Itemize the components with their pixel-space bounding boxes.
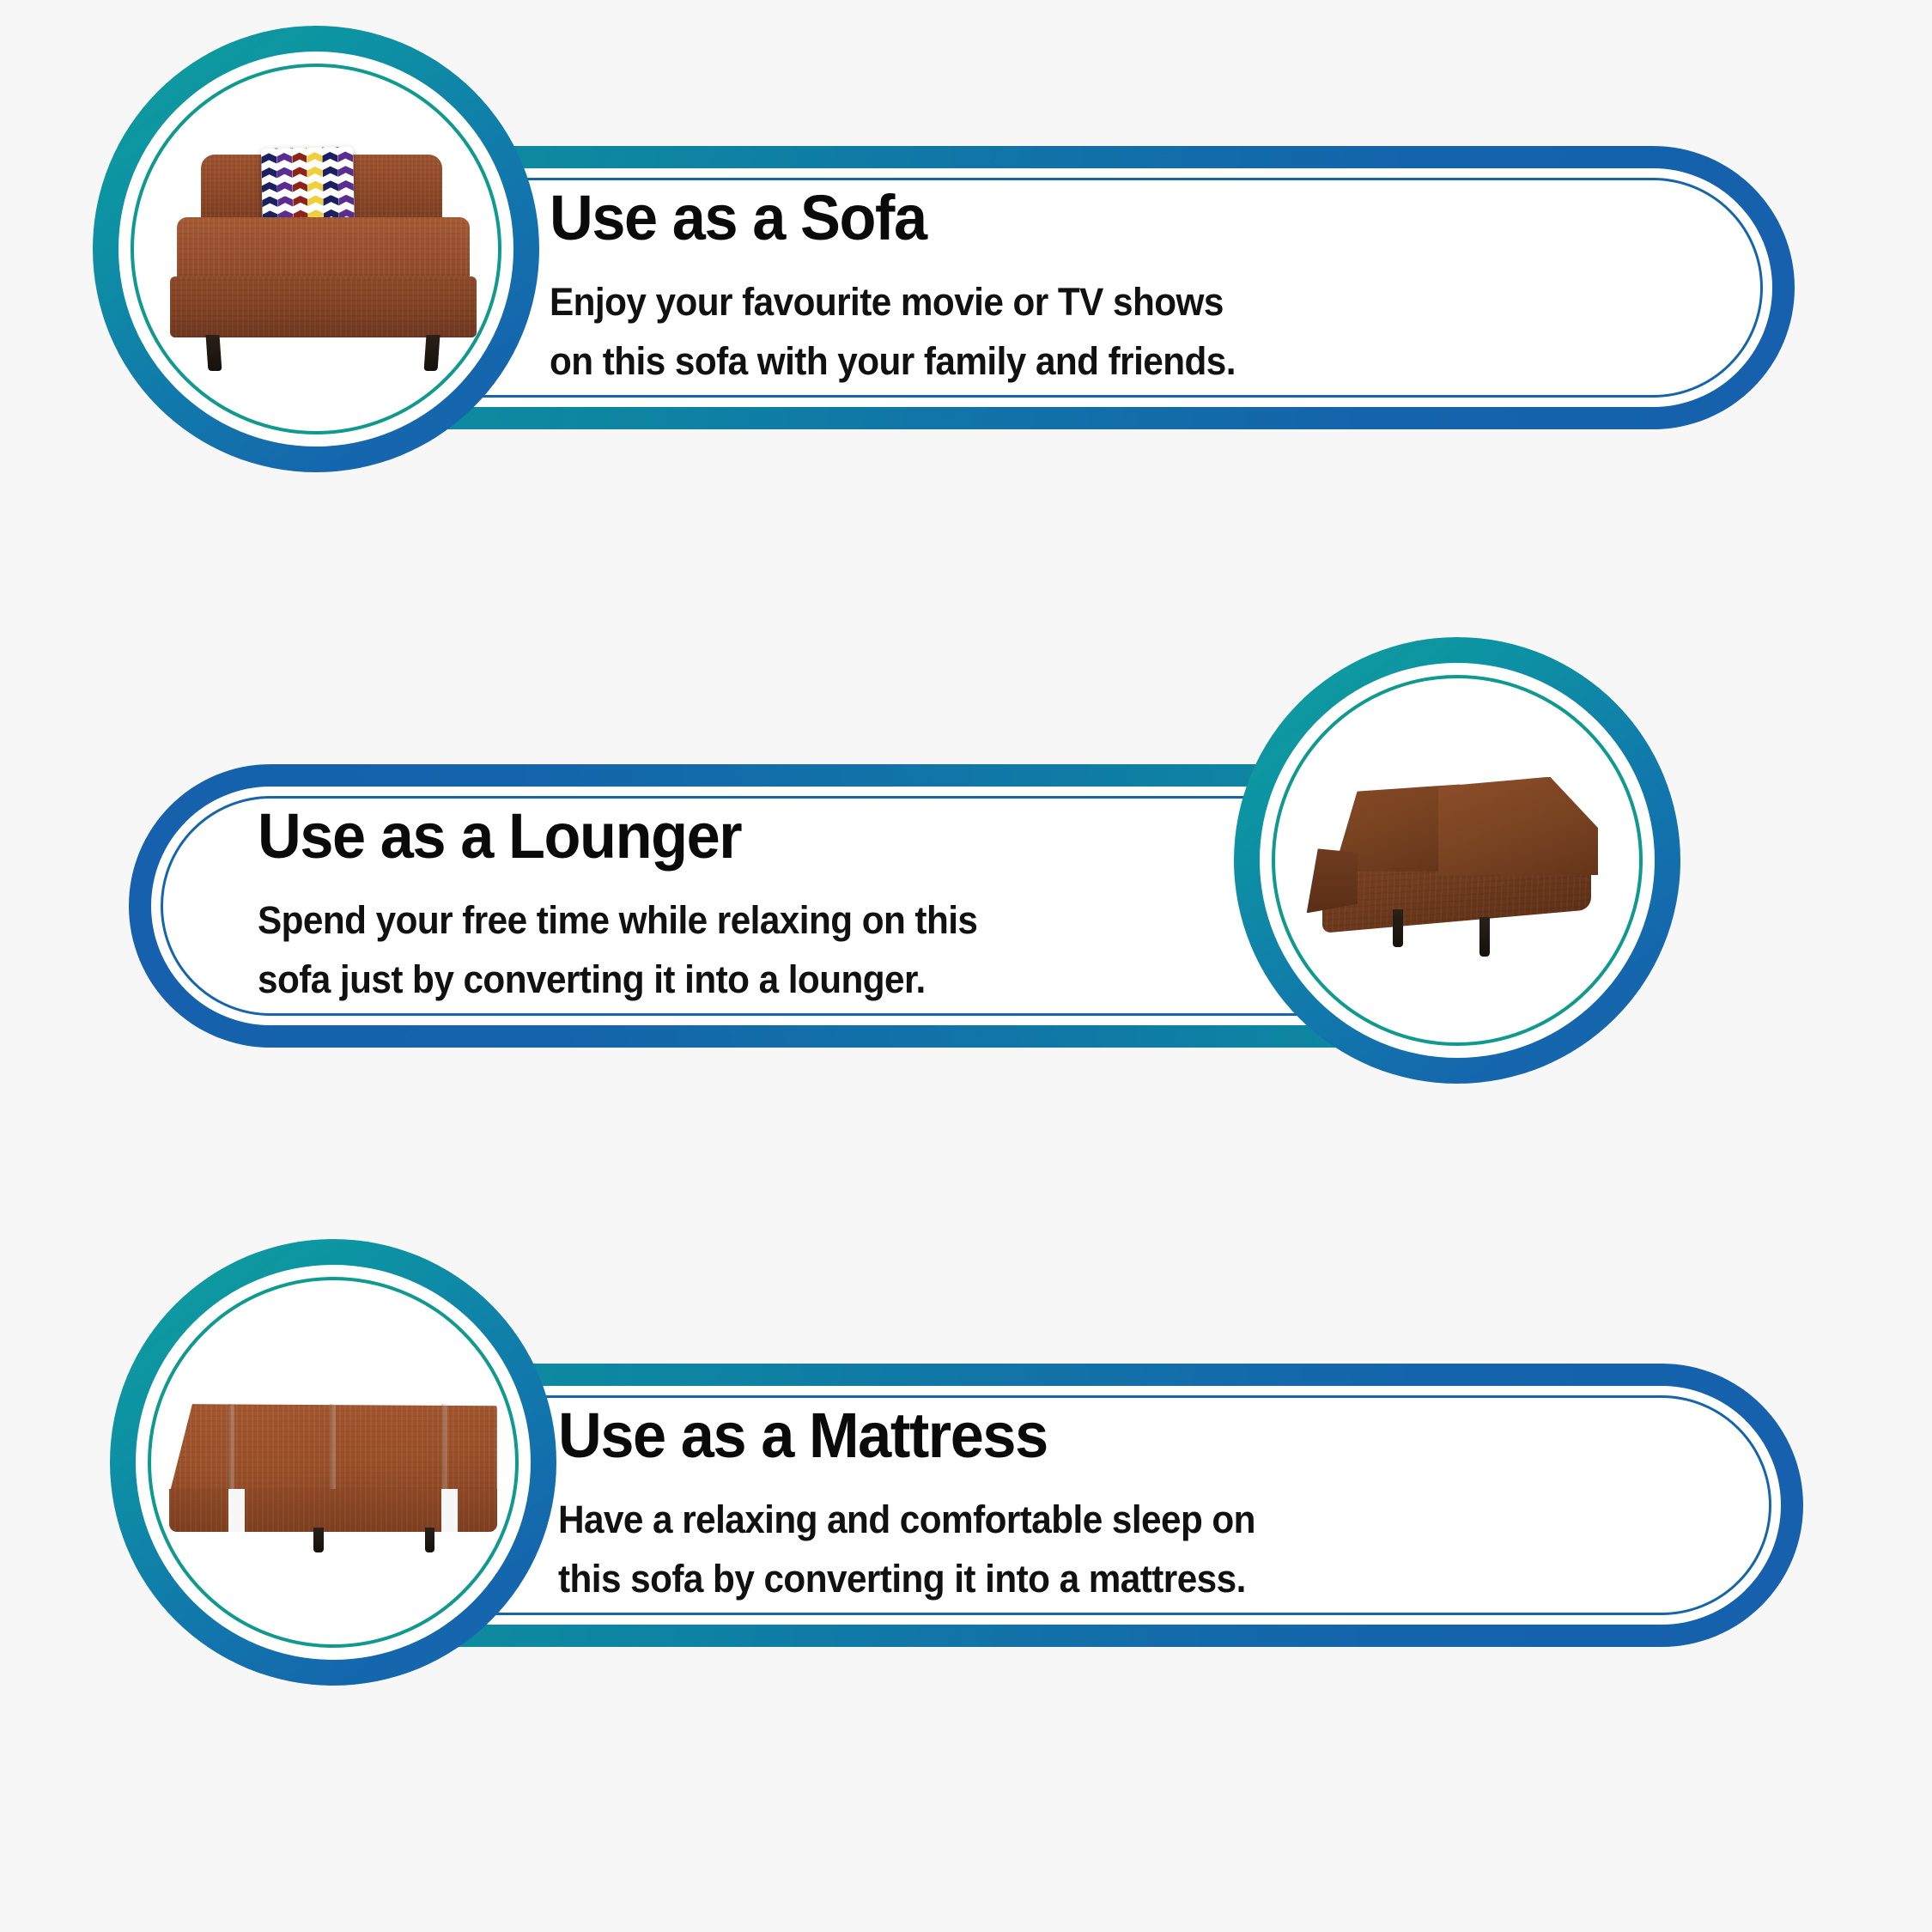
- sofa-description: Enjoy your favourite movie or TV shows o…: [550, 273, 1631, 391]
- cushion-chevron-stripe: [307, 147, 322, 153]
- sofa-base: [170, 276, 476, 337]
- capsule-white-gap: Use as a Mattress Have a relaxing and co…: [340, 1386, 1781, 1625]
- mattress-leg-left: [313, 1528, 323, 1552]
- cushion-chevron-stripe: [276, 153, 292, 167]
- sofa-body: [170, 155, 476, 380]
- mattress-notch-right: [441, 1489, 458, 1533]
- cushion-chevron-stripe: [277, 181, 293, 196]
- badge-inner-ring: [148, 1277, 519, 1648]
- sofa-text-block: Use as a Sofa Enjoy your favourite movie…: [343, 185, 1760, 391]
- cushion-chevron-stripe: [323, 180, 338, 195]
- badge-inner-ring: [131, 64, 501, 434]
- cushion-chevron-stripe: [307, 180, 323, 195]
- sofa-seat: [177, 217, 471, 281]
- mattress-seam-1: [228, 1404, 234, 1494]
- badge-white-gap: [118, 52, 513, 447]
- mattress-description-line-1: Have a relaxing and comfortable sleep on: [558, 1491, 1640, 1549]
- mattress-description-line-2: this sofa by converting it into a mattre…: [558, 1550, 1640, 1608]
- mattress-description: Have a relaxing and comfortable sleep on…: [558, 1491, 1640, 1608]
- lounger-title: Use as a Lounger: [258, 803, 1318, 870]
- sofa-description-line-2: on this sofa with your family and friend…: [550, 332, 1631, 391]
- cushion-chevron-stripe: [292, 152, 307, 167]
- capsule-inner: Use as a Mattress Have a relaxing and co…: [349, 1395, 1771, 1615]
- cushion-chevron-stripe: [323, 166, 338, 180]
- cushion-chevron-stripe: [262, 196, 277, 210]
- cushion-chevron-stripe: [338, 166, 354, 180]
- mattress-body: [169, 1404, 497, 1550]
- lounger-image-badge: [1234, 637, 1680, 1084]
- lounger-side-panel: [1307, 848, 1358, 913]
- cushion-chevron-stripe: [277, 167, 293, 181]
- lounger-leg-left: [1393, 909, 1403, 947]
- mattress-notch-left: [228, 1489, 245, 1533]
- cushion-chevron-stripe: [262, 182, 277, 197]
- cushion-chevron-stripe: [308, 195, 324, 210]
- capsule-white-gap: Use as a Sofa Enjoy your favourite movie…: [331, 168, 1772, 407]
- cushion-chevron-stripe: [276, 147, 292, 153]
- mattress-seam-3: [441, 1404, 447, 1494]
- cushion-chevron-stripe: [307, 167, 323, 181]
- cushion-chevron-stripe: [262, 167, 277, 182]
- cushion-chevron-stripe: [277, 196, 293, 210]
- badge-white-gap: [136, 1265, 531, 1660]
- cushion-chevron-stripe: [292, 147, 307, 153]
- sofa-leg-right: [424, 335, 440, 371]
- lounger-description-line-1: Spend your free time while relaxing on t…: [258, 891, 1307, 950]
- mattress-text-block: Use as a Mattress Have a relaxing and co…: [352, 1402, 1769, 1608]
- lounger-description-line-2: sofa just by converting it into a lounge…: [258, 951, 1307, 1009]
- capsule-inner: Use as a Sofa Enjoy your favourite movie…: [341, 178, 1763, 398]
- sofa-title: Use as a Sofa: [550, 185, 1643, 252]
- infographic-canvas: Use as a Sofa Enjoy your favourite movie…: [0, 0, 1932, 1932]
- mattress-illustration: [151, 1280, 515, 1644]
- cushion-chevron-stripe: [324, 195, 339, 210]
- mattress-leg-right: [425, 1528, 434, 1552]
- cushion-chevron-stripe: [307, 152, 323, 167]
- sofa-illustration: [134, 67, 498, 431]
- lounger-body: [1297, 773, 1617, 962]
- cushion-chevron-stripe: [323, 152, 338, 167]
- cushion-chevron-stripe: [337, 151, 353, 166]
- sofa-image-badge: [93, 26, 539, 472]
- cushion-chevron-stripe: [293, 196, 308, 210]
- mattress-title: Use as a Mattress: [558, 1402, 1651, 1469]
- lounger-leg-right: [1479, 917, 1490, 957]
- sofa-leg-left: [206, 335, 222, 371]
- cushion-chevron-stripe: [261, 147, 276, 154]
- badge-inner-ring: [1272, 675, 1643, 1046]
- badge-white-gap: [1260, 663, 1655, 1058]
- mattress-image-badge: [110, 1239, 556, 1686]
- cushion-chevron-stripe: [293, 181, 308, 196]
- cushion-chevron-stripe: [337, 147, 353, 152]
- cushion-chevron-stripe: [338, 194, 354, 209]
- mattress-seam-2: [330, 1404, 336, 1494]
- lounger-backrest-right: [1438, 777, 1599, 876]
- cushion-chevron-stripe: [261, 153, 276, 167]
- sofa-description-line-1: Enjoy your favourite movie or TV shows: [550, 273, 1631, 331]
- cushion-chevron-stripe: [338, 180, 354, 195]
- cushion-chevron-stripe: [292, 167, 307, 181]
- lounger-description: Spend your free time while relaxing on t…: [258, 891, 1307, 1009]
- lounger-illustration: [1275, 678, 1639, 1042]
- cushion-chevron-stripe: [322, 147, 337, 152]
